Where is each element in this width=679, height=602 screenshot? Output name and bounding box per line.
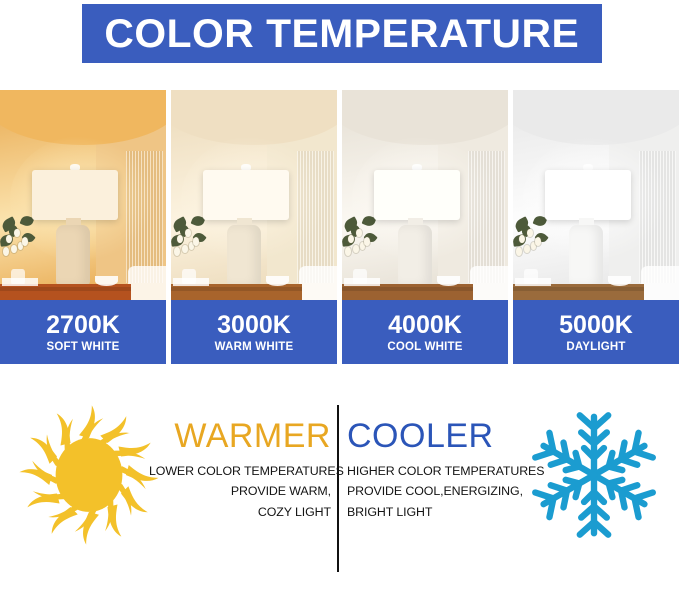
panel-kelvin: 2700K	[46, 312, 120, 338]
side-table-edge	[513, 287, 644, 292]
flower-arrangement	[0, 216, 40, 287]
warmer-heading: WARMER	[149, 418, 331, 455]
lamp-base	[227, 225, 262, 286]
book	[344, 278, 381, 286]
color-temperature-panel-strip: 2700KSOFT WHITE3000KWARM WHITE4000KCOOL …	[0, 90, 679, 364]
warmer-line-3: COZY LIGHT	[149, 502, 331, 522]
panel-label: DAYLIGHT	[566, 341, 625, 354]
panel-label-bar: 2700KSOFT WHITE	[0, 300, 166, 364]
side-table-edge	[342, 287, 473, 292]
lamp-shade	[203, 170, 289, 220]
lamp-shade	[32, 170, 118, 220]
panel-label: SOFT WHITE	[47, 341, 120, 354]
cooler-text-block: COOLER HIGHER COLOR TEMPERATURES PROVIDE…	[347, 418, 529, 522]
panel-kelvin: 4000K	[388, 312, 462, 338]
room-divider-screen	[468, 151, 505, 283]
panel-3000k[interactable]: 3000KWARM WHITE	[171, 90, 337, 364]
bed-corner	[299, 266, 337, 300]
lamp-base	[56, 225, 91, 286]
room-divider-screen	[639, 151, 676, 283]
bed-corner	[470, 266, 508, 300]
panel-4000k[interactable]: 4000KCOOL WHITE	[342, 90, 508, 364]
room-scene-photo	[513, 90, 679, 300]
flower-arrangement	[342, 216, 382, 287]
lamp-shade	[545, 170, 631, 220]
book	[515, 278, 552, 286]
panel-kelvin: 3000K	[217, 312, 291, 338]
warmer-text-block: WARMER LOWER COLOR TEMPERATURES PROVIDE …	[149, 418, 331, 522]
cooler-section: COOLER HIGHER COLOR TEMPERATURES PROVIDE…	[339, 364, 679, 602]
warmer-section: WARMER LOWER COLOR TEMPERATURES PROVIDE …	[0, 364, 337, 602]
side-table-edge	[0, 287, 131, 292]
lamp-base	[398, 225, 433, 286]
cooler-line-1: HIGHER COLOR TEMPERATURES	[347, 461, 529, 481]
room-scene-photo	[342, 90, 508, 300]
panel-kelvin: 5000K	[559, 312, 633, 338]
warmer-line-2: PROVIDE WARM,	[149, 481, 331, 501]
warmer-line-1: LOWER COLOR TEMPERATURES	[149, 461, 331, 481]
page-title: COLOR TEMPERATURE	[105, 14, 580, 54]
lamp-shade	[374, 170, 460, 220]
side-table-edge	[171, 287, 302, 292]
panel-label-bar: 3000KWARM WHITE	[171, 300, 337, 364]
panel-label-bar: 5000KDAYLIGHT	[513, 300, 679, 364]
flower-arrangement	[513, 216, 553, 287]
room-scene-photo	[0, 90, 166, 300]
cooler-line-3: BRIGHT LIGHT	[347, 502, 529, 522]
panel-2700k[interactable]: 2700KSOFT WHITE	[0, 90, 166, 364]
bed-corner	[128, 266, 166, 300]
cooler-heading: COOLER	[347, 418, 529, 455]
book	[2, 278, 39, 286]
flower-arrangement	[171, 216, 211, 287]
panel-label: COOL WHITE	[387, 341, 462, 354]
panel-label-bar: 4000KCOOL WHITE	[342, 300, 508, 364]
warm-cool-comparison: WARMER LOWER COLOR TEMPERATURES PROVIDE …	[0, 364, 679, 602]
snowflake-icon	[523, 400, 665, 550]
section-divider	[337, 405, 339, 572]
room-divider-screen	[126, 151, 163, 283]
panel-5000k[interactable]: 5000KDAYLIGHT	[513, 90, 679, 364]
room-scene-photo	[171, 90, 337, 300]
lamp-base	[569, 225, 604, 286]
book	[173, 278, 210, 286]
cooler-line-2: PROVIDE COOL,ENERGIZING,	[347, 481, 529, 501]
bed-corner	[641, 266, 679, 300]
room-divider-screen	[297, 151, 334, 283]
sun-icon	[18, 400, 160, 550]
panel-label: WARM WHITE	[215, 341, 294, 354]
page-title-banner: COLOR TEMPERATURE	[82, 4, 602, 63]
